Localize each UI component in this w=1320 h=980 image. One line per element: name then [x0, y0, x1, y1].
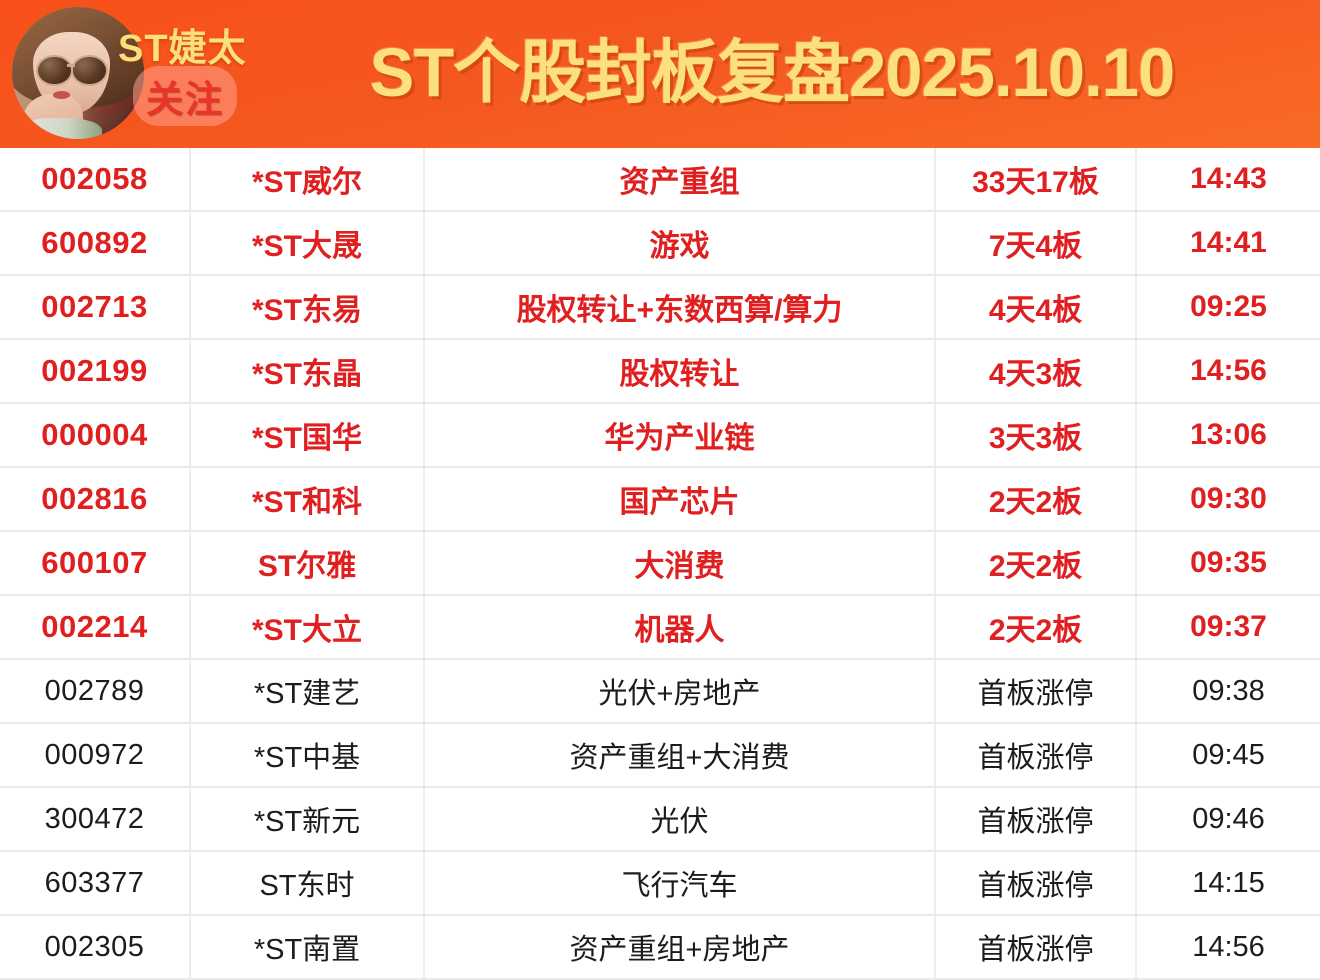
- table-row[interactable]: 002199*ST东晶股权转让4天3板14:56: [0, 339, 1320, 403]
- table-row[interactable]: 002214*ST大立机器人2天2板09:37: [0, 595, 1320, 659]
- cell-seal-time: 14:56: [1136, 915, 1320, 979]
- cell-stock-code: 002789: [0, 659, 190, 723]
- table-row[interactable]: 002816*ST和科国产芯片2天2板09:30: [0, 467, 1320, 531]
- cell-theme: 资产重组+大消费: [424, 723, 935, 787]
- table-row[interactable]: 002789*ST建艺光伏+房地产首板涨停09:38: [0, 659, 1320, 723]
- cell-theme: 光伏+房地产: [424, 659, 935, 723]
- page-title: ST个股封板复盘2025.10.10: [287, 30, 1257, 116]
- cell-stock-name: *ST大晟: [190, 211, 424, 275]
- cell-board-streak: 33天17板: [935, 148, 1136, 211]
- cell-stock-code: 002816: [0, 467, 190, 531]
- cell-seal-time: 09:37: [1136, 595, 1320, 659]
- sunglasses-left-lens: [36, 55, 73, 87]
- cell-seal-time: 09:35: [1136, 531, 1320, 595]
- cell-stock-code: 300472: [0, 787, 190, 851]
- table-row[interactable]: 603377ST东时飞行汽车首板涨停14:15: [0, 851, 1320, 915]
- cell-stock-name: *ST东晶: [190, 339, 424, 403]
- cell-theme: 国产芯片: [424, 467, 935, 531]
- cell-theme: 股权转让: [424, 339, 935, 403]
- cell-seal-time: 13:06: [1136, 403, 1320, 467]
- cell-board-streak: 2天2板: [935, 595, 1136, 659]
- cell-board-streak: 首板涨停: [935, 851, 1136, 915]
- cell-board-streak: 3天3板: [935, 403, 1136, 467]
- cell-board-streak: 4天4板: [935, 275, 1136, 339]
- cell-board-streak: 首板涨停: [935, 659, 1136, 723]
- header-banner: ST婕太 关注 ST个股封板复盘2025.10.10: [0, 0, 1320, 148]
- account-username: ST婕太: [118, 17, 247, 72]
- cell-stock-name: *ST南置: [190, 915, 424, 979]
- cell-theme: 华为产业链: [424, 403, 935, 467]
- cell-stock-code: 603377: [0, 851, 190, 915]
- cell-seal-time: 09:38: [1136, 659, 1320, 723]
- cell-stock-code: 000972: [0, 723, 190, 787]
- cell-theme: 股权转让+东数西算/算力: [424, 275, 935, 339]
- cell-seal-time: 14:15: [1136, 851, 1320, 915]
- stock-limit-up-table: 002058*ST威尔资产重组33天17板14:43600892*ST大晟游戏7…: [0, 148, 1320, 980]
- cell-theme: 资产重组: [424, 148, 935, 211]
- cell-stock-name: *ST新元: [190, 787, 424, 851]
- cell-stock-name: *ST大立: [190, 595, 424, 659]
- table-row[interactable]: 002713*ST东易股权转让+东数西算/算力4天4板09:25: [0, 275, 1320, 339]
- follow-button[interactable]: 关注: [133, 66, 237, 126]
- cell-seal-time: 14:56: [1136, 339, 1320, 403]
- table-row[interactable]: 000972*ST中基资产重组+大消费首板涨停09:45: [0, 723, 1320, 787]
- cell-seal-time: 09:45: [1136, 723, 1320, 787]
- follow-button-label: 关注: [146, 69, 224, 123]
- cell-stock-code: 002214: [0, 595, 190, 659]
- table-row[interactable]: 002058*ST威尔资产重组33天17板14:43: [0, 148, 1320, 211]
- cell-theme: 光伏: [424, 787, 935, 851]
- table-body: 002058*ST威尔资产重组33天17板14:43600892*ST大晟游戏7…: [0, 148, 1320, 979]
- cell-stock-name: *ST国华: [190, 403, 424, 467]
- cell-stock-code: 002058: [0, 148, 190, 211]
- sunglasses-bridge: [67, 64, 75, 67]
- cell-stock-name: *ST建艺: [190, 659, 424, 723]
- cell-seal-time: 14:41: [1136, 211, 1320, 275]
- table-row[interactable]: 002305*ST南置资产重组+房地产首板涨停14:56: [0, 915, 1320, 979]
- table-row[interactable]: 600107ST尔雅大消费2天2板09:35: [0, 531, 1320, 595]
- cell-stock-code: 002305: [0, 915, 190, 979]
- cell-stock-code: 000004: [0, 403, 190, 467]
- table-row[interactable]: 000004*ST国华华为产业链3天3板13:06: [0, 403, 1320, 467]
- cell-theme: 大消费: [424, 531, 935, 595]
- cell-stock-name: ST东时: [190, 851, 424, 915]
- cell-board-streak: 4天3板: [935, 339, 1136, 403]
- cell-seal-time: 09:46: [1136, 787, 1320, 851]
- cell-board-streak: 2天2板: [935, 531, 1136, 595]
- cell-seal-time: 09:30: [1136, 467, 1320, 531]
- cell-board-streak: 2天2板: [935, 467, 1136, 531]
- cell-board-streak: 首板涨停: [935, 787, 1136, 851]
- cell-stock-name: ST尔雅: [190, 531, 424, 595]
- cell-stock-name: *ST中基: [190, 723, 424, 787]
- cell-theme: 资产重组+房地产: [424, 915, 935, 979]
- cell-theme: 飞行汽车: [424, 851, 935, 915]
- cell-seal-time: 14:43: [1136, 148, 1320, 211]
- cell-board-streak: 7天4板: [935, 211, 1136, 275]
- cell-stock-code: 600107: [0, 531, 190, 595]
- cell-stock-name: *ST威尔: [190, 148, 424, 211]
- cell-board-streak: 首板涨停: [935, 915, 1136, 979]
- table-row[interactable]: 600892*ST大晟游戏7天4板14:41: [0, 211, 1320, 275]
- avatar-shoulder: [17, 118, 101, 139]
- cell-stock-name: *ST东易: [190, 275, 424, 339]
- cell-theme: 游戏: [424, 211, 935, 275]
- cell-stock-code: 002713: [0, 275, 190, 339]
- cell-theme: 机器人: [424, 595, 935, 659]
- cell-stock-name: *ST和科: [190, 467, 424, 531]
- table-row[interactable]: 300472*ST新元光伏首板涨停09:46: [0, 787, 1320, 851]
- cell-stock-code: 002199: [0, 339, 190, 403]
- cell-stock-code: 600892: [0, 211, 190, 275]
- cell-seal-time: 09:25: [1136, 275, 1320, 339]
- cell-board-streak: 首板涨停: [935, 723, 1136, 787]
